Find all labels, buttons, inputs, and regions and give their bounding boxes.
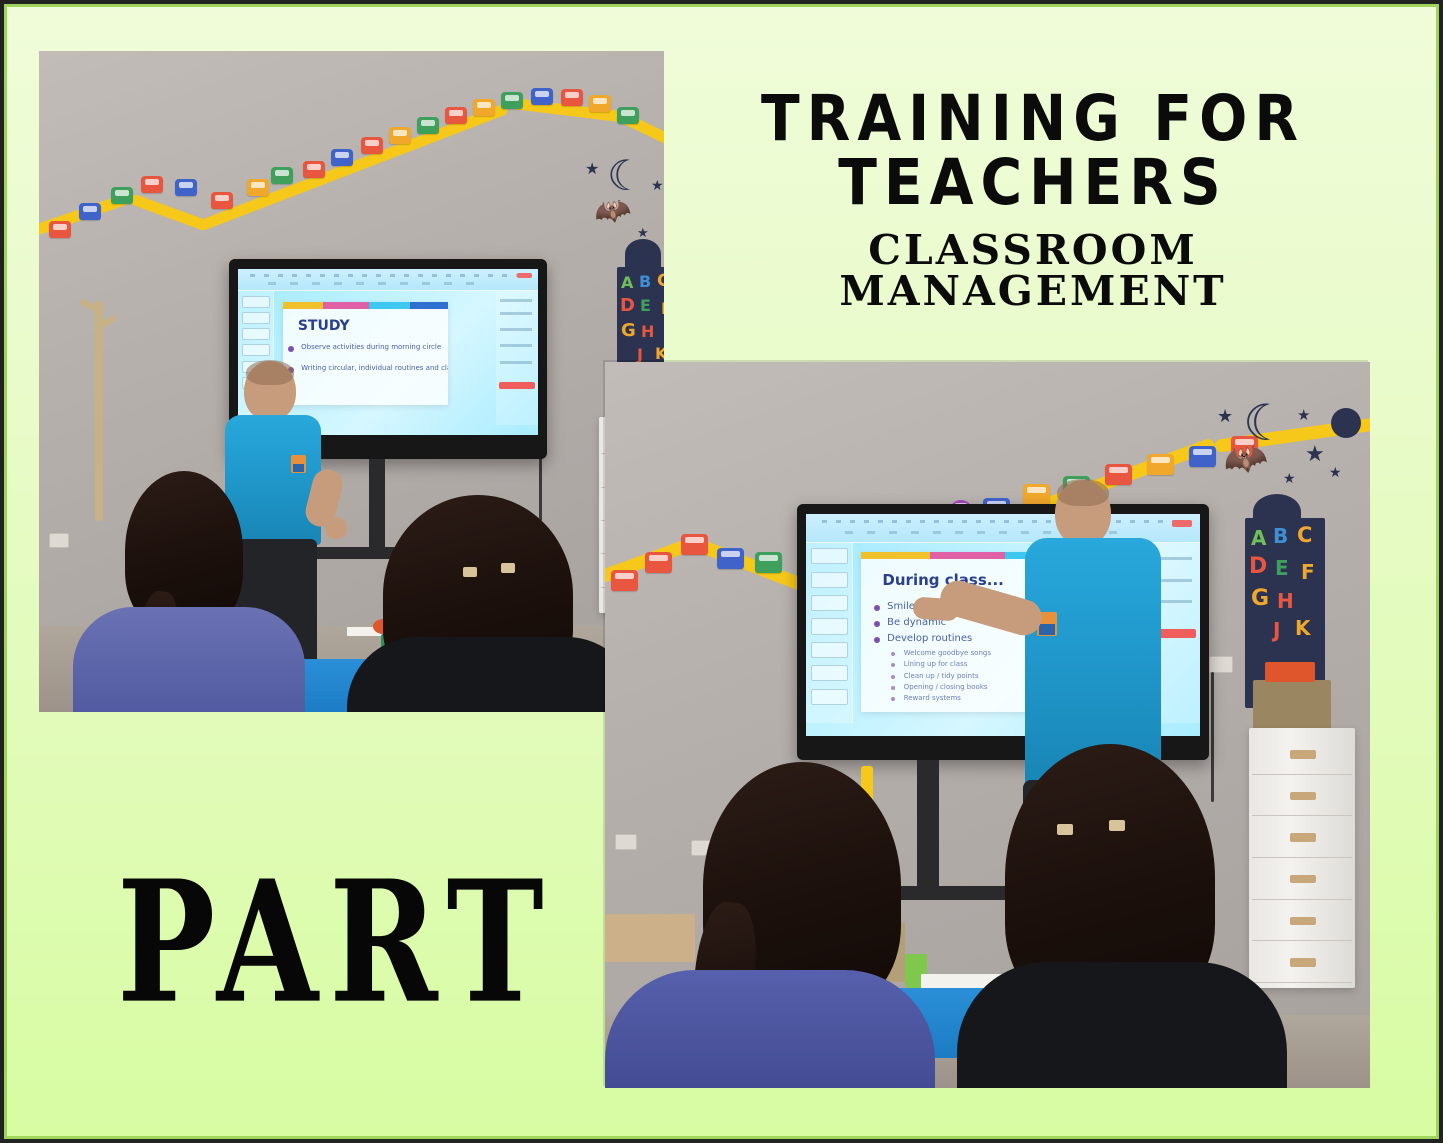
train-decoration — [417, 117, 439, 134]
power-socket — [615, 834, 637, 850]
star-icon: ★ — [651, 179, 664, 193]
planet-icon — [1331, 408, 1361, 438]
train-decoration — [473, 99, 495, 116]
train-decoration — [303, 161, 325, 178]
train-decoration — [755, 552, 782, 573]
trainer-head — [244, 361, 296, 421]
abc-letter: K — [655, 346, 664, 362]
abc-letter: C — [657, 273, 664, 290]
slide-thumbnail[interactable] — [811, 548, 848, 564]
abc-letter: G — [621, 322, 636, 340]
train-decoration — [79, 203, 101, 220]
slide-sub-bullet: Welcome goodbye songs — [904, 649, 991, 657]
slide-thumbnail[interactable] — [811, 595, 848, 611]
slide-thumbnail[interactable] — [811, 642, 848, 658]
trainee-dark-body — [347, 637, 637, 712]
star-icon: ★ — [1329, 466, 1342, 480]
train-decoration — [645, 552, 672, 573]
train-decoration — [445, 107, 467, 124]
abc-letter: B — [639, 274, 651, 290]
train-decoration — [175, 179, 197, 196]
abc-letter: E — [1275, 558, 1289, 578]
abc-letter: J — [1273, 620, 1280, 640]
slide-thumbnail[interactable] — [811, 572, 848, 588]
storage-basket — [1253, 680, 1331, 730]
train-decoration — [1023, 484, 1050, 505]
trainee-dark-body — [957, 962, 1287, 1088]
record-button[interactable] — [1172, 520, 1192, 527]
toolbar-icons-secondary — [268, 282, 478, 285]
photo-pointing: ☾ ★ ★ ★ ★ ★ 🦇 A B C D E F G H J K — [605, 362, 1370, 1088]
train-decoration — [361, 137, 383, 154]
star-icon: ★ — [1217, 408, 1233, 426]
title-line-2: TEACHERS — [672, 153, 1394, 213]
train-decoration — [211, 192, 233, 209]
slide-thumbnail[interactable] — [242, 344, 270, 356]
slide-title: STUDY — [298, 318, 350, 334]
panel-row — [500, 299, 532, 302]
app-toolbar — [238, 269, 538, 291]
slide-title: During class... — [882, 571, 1003, 589]
slide-sub-bullet: Lining up for class — [904, 660, 968, 668]
slide-thumbnail-panel[interactable] — [806, 543, 853, 723]
train-decoration — [531, 88, 553, 105]
slide-sub-bullet: Reward systems — [904, 694, 961, 702]
panel-row — [500, 312, 532, 315]
abc-letter: H — [1277, 591, 1294, 611]
train-decoration — [561, 89, 583, 106]
slide-thumbnail[interactable] — [242, 296, 270, 308]
abc-letter: F — [1301, 562, 1315, 582]
bat-icon: 🦇 — [1220, 438, 1271, 483]
train-decoration — [331, 149, 353, 166]
title-block: TRAINING FOR TEACHERS CLASSROOM MANAGEME… — [672, 89, 1394, 312]
cable — [1211, 672, 1214, 802]
slide-bullet: Develop routines — [887, 633, 972, 644]
slide-thumbnail[interactable] — [811, 618, 848, 634]
trainee-ponytail-body — [605, 970, 935, 1088]
train-decoration — [589, 95, 611, 112]
drawer[interactable] — [1252, 944, 1352, 983]
panel-row — [500, 344, 532, 347]
train-decoration — [617, 107, 639, 124]
slide-thumbnail[interactable] — [811, 665, 848, 681]
screen-stand-pole — [369, 459, 385, 555]
red-object — [1265, 662, 1315, 682]
abc-letter: F — [661, 301, 664, 317]
train-decoration — [1147, 454, 1174, 475]
train-decoration — [611, 570, 638, 591]
slide-thumbnail[interactable] — [242, 312, 270, 324]
abc-letter: E — [640, 298, 651, 314]
trainer-hand — [325, 517, 347, 539]
abc-letter: G — [1251, 588, 1269, 610]
slide-sub-bullet: Clean up / tidy points — [904, 672, 979, 680]
train-decoration — [271, 167, 293, 184]
train-decoration — [681, 534, 708, 555]
train-decoration — [501, 92, 523, 109]
slide-accent-bar — [283, 302, 448, 309]
star-icon: ★ — [1297, 408, 1310, 423]
star-icon: ★ — [585, 161, 599, 177]
abc-letter: A — [621, 275, 633, 291]
star-icon: ★ — [1283, 472, 1296, 486]
train-decoration — [111, 187, 133, 204]
trainer-head — [1055, 480, 1111, 546]
train-decoration — [141, 176, 163, 193]
power-socket — [1209, 656, 1233, 673]
train-decoration — [389, 127, 411, 144]
drawer-unit — [1249, 728, 1355, 988]
bat-icon: 🦇 — [591, 193, 634, 230]
slide-bullet: Observe activities during morning circle — [301, 343, 441, 351]
train-decoration — [717, 548, 744, 569]
toolbar-icons — [250, 274, 526, 277]
abc-letter: H — [641, 324, 654, 340]
classroom-scene-1: ☾ ★ ★ ★ ★ 🦇 A B C D E F G H J K — [39, 51, 664, 712]
train-decoration — [1105, 464, 1132, 485]
hair-clip — [463, 567, 477, 577]
train-decoration — [247, 179, 269, 196]
classroom-scene-2: ☾ ★ ★ ★ ★ ★ 🦇 A B C D E F G H J K — [605, 362, 1370, 1088]
train-decoration — [1189, 446, 1216, 467]
panel-action-button[interactable] — [499, 382, 535, 389]
slide-thumbnail[interactable] — [811, 689, 848, 705]
hair-clip — [1057, 824, 1073, 835]
star-icon: ★ — [663, 209, 664, 227]
record-button[interactable] — [517, 273, 532, 278]
shirt-logo — [291, 455, 306, 473]
abc-letter: D — [620, 297, 635, 315]
poster-frame: TRAINING FOR TEACHERS CLASSROOM MANAGEME… — [0, 0, 1443, 1143]
poster-canvas: TRAINING FOR TEACHERS CLASSROOM MANAGEME… — [4, 4, 1439, 1139]
trainer-hand — [912, 596, 959, 621]
slide-thumbnail[interactable] — [242, 328, 270, 340]
drawer[interactable] — [1252, 902, 1352, 941]
slide-canvas: STUDY Observe activities during morning … — [283, 302, 448, 405]
slide-bullet: Writing circular, individual routines an… — [301, 364, 448, 372]
castle-silhouette-icon — [625, 239, 661, 269]
abc-letter: K — [1295, 618, 1311, 638]
slide-sub-bullet: Opening / closing books — [904, 683, 988, 691]
drawer[interactable] — [1252, 861, 1352, 900]
power-socket — [49, 533, 69, 548]
abc-letter: A — [1251, 528, 1266, 548]
abc-letter: C — [1297, 525, 1312, 546]
abc-letter: D — [1249, 556, 1267, 578]
side-properties-panel[interactable] — [496, 291, 538, 425]
train-decoration — [49, 221, 71, 238]
star-icon: ★ — [1305, 444, 1325, 466]
toolbar-icons — [822, 520, 1184, 523]
drawer[interactable] — [1252, 777, 1352, 816]
trainee-ponytail-body — [73, 607, 305, 712]
hair-clip — [1109, 820, 1125, 831]
drawer[interactable] — [1252, 819, 1352, 858]
panel-row — [500, 361, 532, 364]
table-prop — [605, 914, 695, 962]
abc-letter: B — [1273, 526, 1288, 546]
screen-stand-pole — [917, 760, 939, 896]
drawer[interactable] — [1252, 736, 1352, 775]
abc-letter: J — [637, 347, 643, 363]
coat-tree — [95, 301, 103, 521]
hair-clip — [501, 563, 515, 573]
photo-wide-room: ☾ ★ ★ ★ ★ 🦇 A B C D E F G H J K — [39, 51, 664, 712]
panel-row — [500, 328, 532, 331]
title-line-1: TRAINING FOR — [672, 89, 1394, 149]
title-subtitle: CLASSROOM MANAGEMENT — [672, 230, 1394, 312]
